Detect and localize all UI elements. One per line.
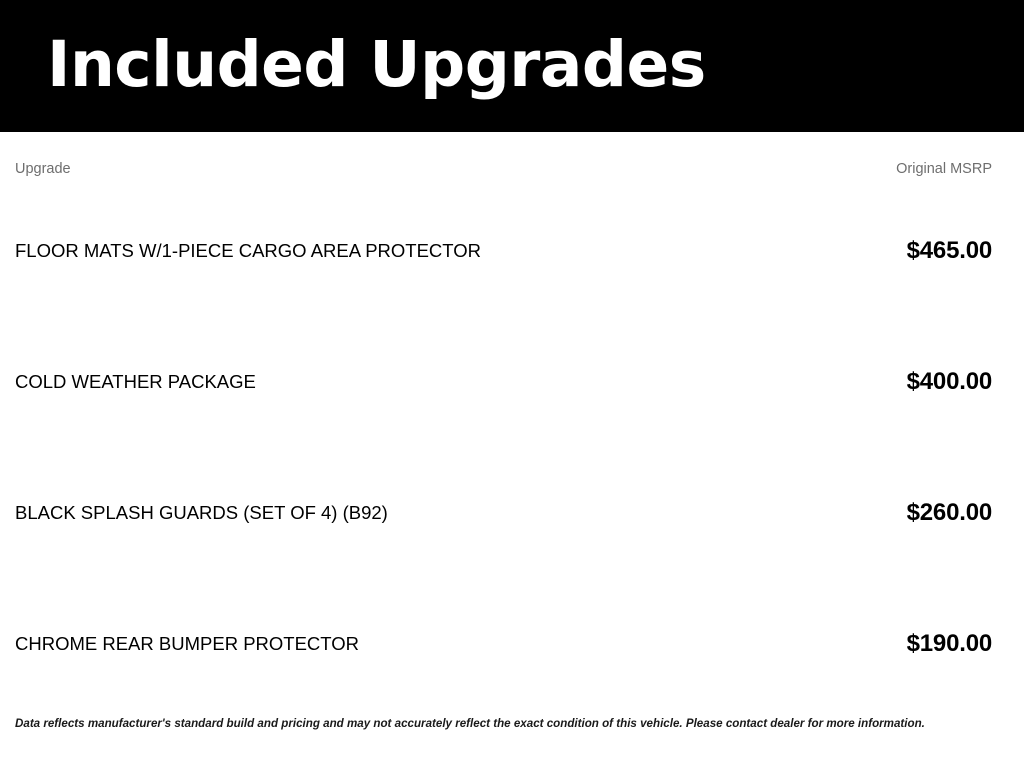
upgrade-price: $260.00: [907, 498, 992, 528]
upgrades-table: Upgrade Original MSRP FLOOR MATS W/1-PIE…: [0, 132, 1024, 768]
upgrade-name: FLOOR MATS W/1-PIECE CARGO AREA PROTECTO…: [15, 236, 481, 266]
upgrade-price: $190.00: [907, 629, 992, 659]
table-row: BLACK SPLASH GUARDS (SET OF 4) (B92) $26…: [0, 498, 1024, 528]
table-row: COLD WEATHER PACKAGE $400.00: [0, 367, 1024, 397]
column-header-original-msrp: Original MSRP: [896, 159, 992, 179]
upgrade-name: COLD WEATHER PACKAGE: [15, 367, 256, 397]
upgrade-price: $465.00: [907, 236, 992, 266]
disclaimer-text: Data reflects manufacturer's standard bu…: [15, 716, 1005, 731]
upgrade-name: CHROME REAR BUMPER PROTECTOR: [15, 629, 359, 659]
page-title: Included Upgrades: [47, 24, 706, 106]
table-row: CHROME REAR BUMPER PROTECTOR $190.00: [0, 629, 1024, 659]
table-row: FLOOR MATS W/1-PIECE CARGO AREA PROTECTO…: [0, 236, 1024, 266]
included-upgrades-page: Included Upgrades Upgrade Original MSRP …: [0, 0, 1024, 768]
column-header-upgrade: Upgrade: [15, 159, 71, 179]
upgrade-name: BLACK SPLASH GUARDS (SET OF 4) (B92): [15, 498, 388, 528]
upgrade-price: $400.00: [907, 367, 992, 397]
page-header-banner: Included Upgrades: [0, 0, 1024, 132]
